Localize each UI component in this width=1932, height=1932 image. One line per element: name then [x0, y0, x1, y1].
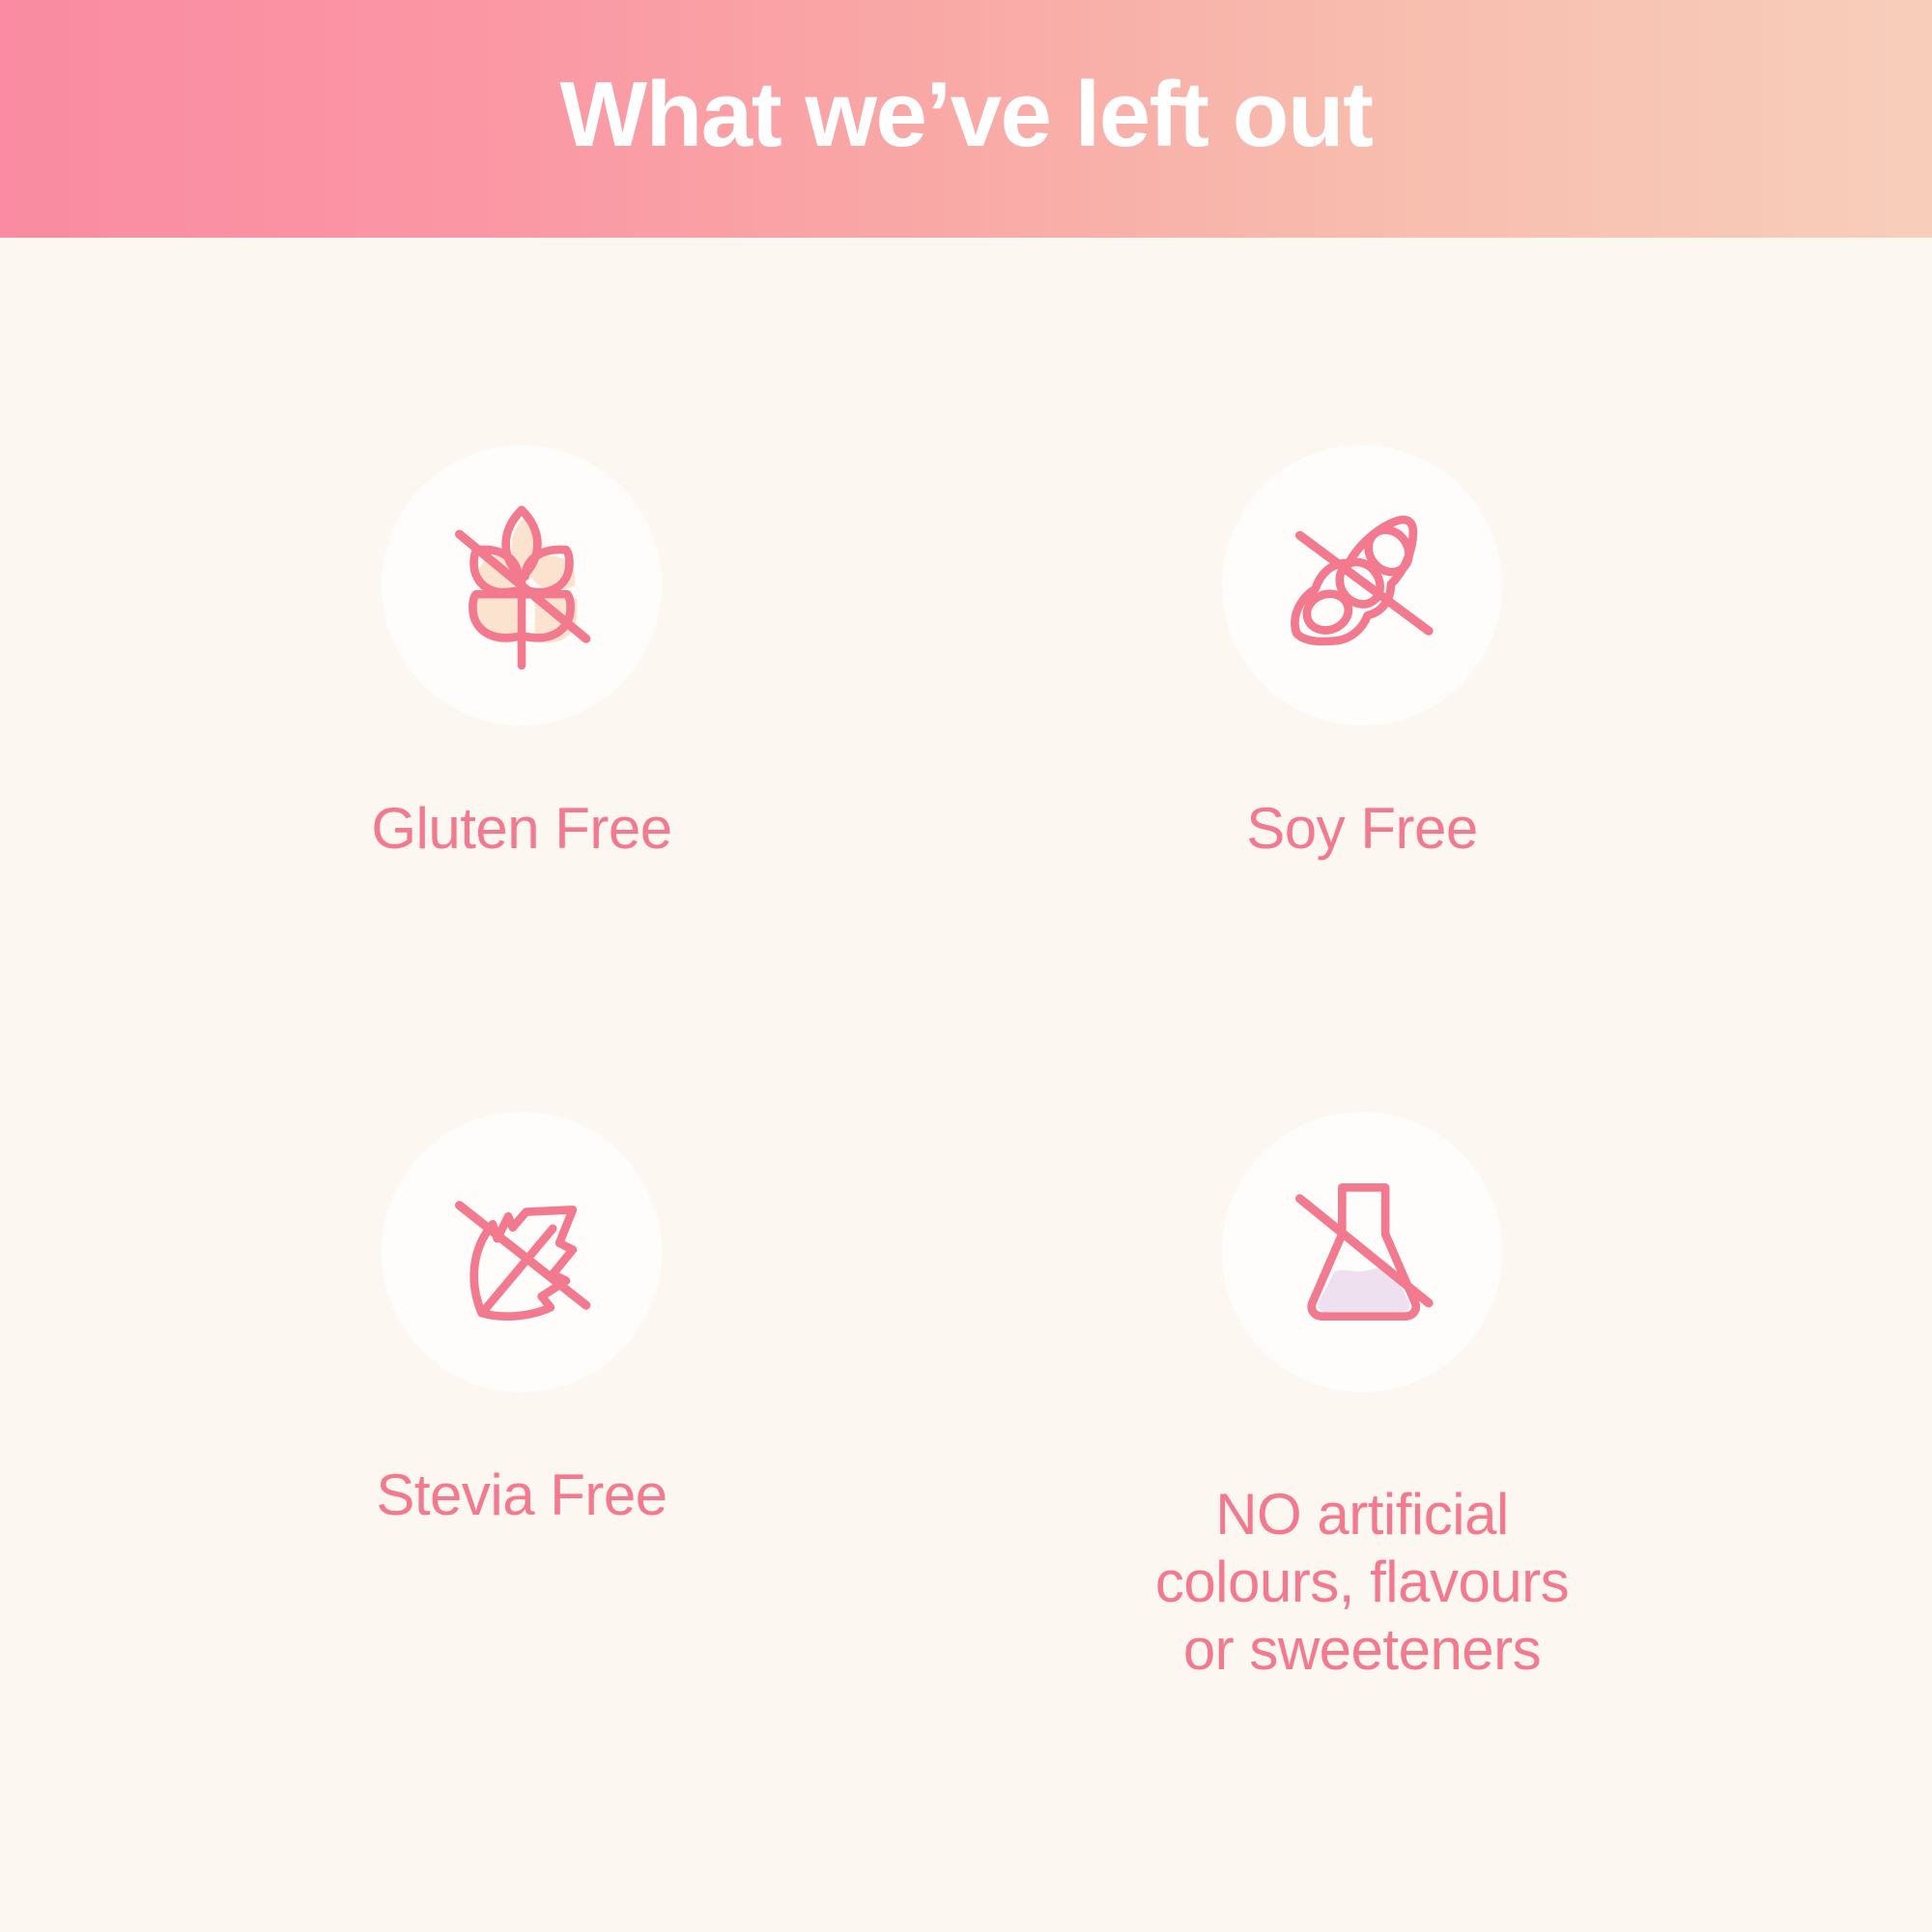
benefit-label: Soy Free [1246, 795, 1477, 863]
no-wheat-icon [382, 445, 662, 725]
benefit-label-line: NO artificial [1053, 1481, 1671, 1548]
benefit-card-gluten-free: Gluten Free [184, 445, 860, 863]
benefit-label-line: colours, flavours [1053, 1548, 1671, 1616]
no-soy-icon [1222, 445, 1502, 725]
page-title: What we’ve left out [560, 69, 1373, 161]
no-flask-icon [1222, 1112, 1502, 1392]
benefit-label: NO artificial colours, flavours or sweet… [1053, 1481, 1671, 1685]
benefit-card-stevia-free: Stevia Free [184, 1112, 860, 1529]
benefit-label: Stevia Free [376, 1462, 667, 1529]
benefit-label: Gluten Free [371, 795, 671, 863]
no-stevia-leaf-icon [382, 1112, 662, 1392]
benefit-card-soy-free: Soy Free [1024, 445, 1700, 863]
benefit-label-line: or sweeteners [1053, 1616, 1671, 1684]
benefits-grid: Gluten Free Soy Free [0, 238, 1932, 1932]
header-banner: What we’ve left out [0, 0, 1932, 238]
benefit-card-no-artificial: NO artificial colours, flavours or sweet… [1024, 1112, 1700, 1685]
